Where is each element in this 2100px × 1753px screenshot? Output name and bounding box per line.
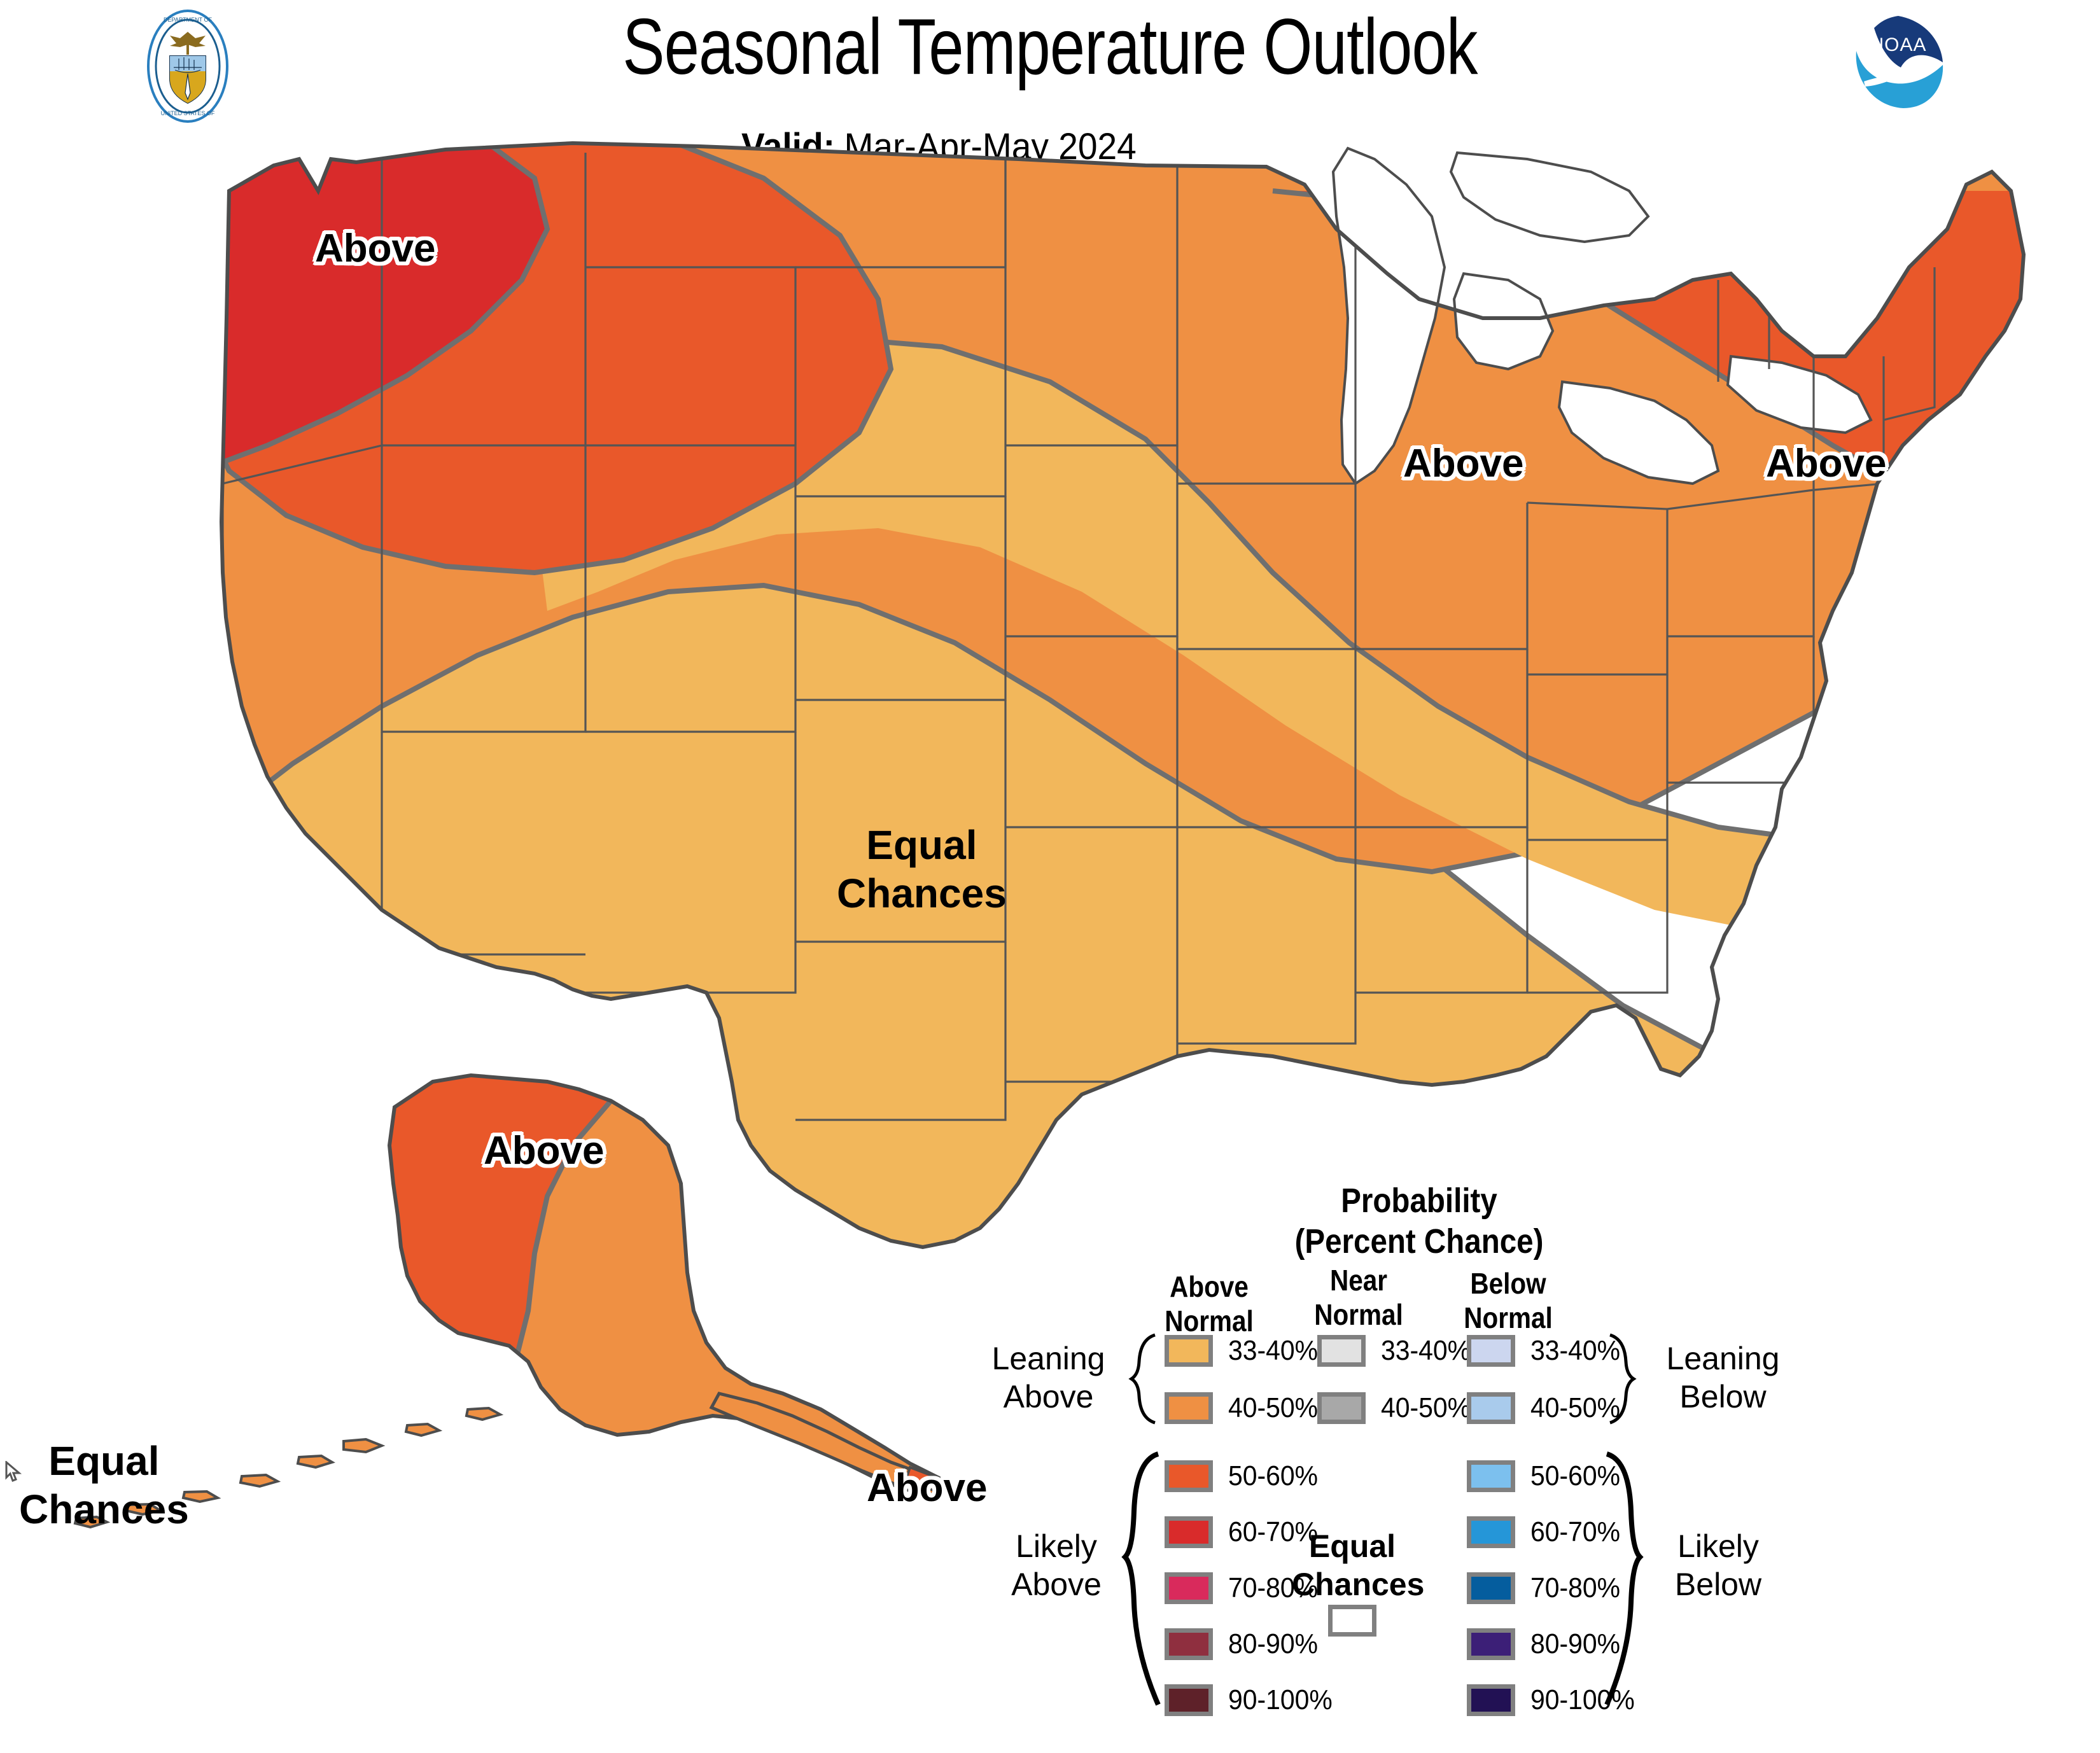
swatch-label-above-80-90: 80-90%: [1228, 1628, 1318, 1660]
equal-chances-line1: Equal: [837, 821, 1007, 869]
swatch-above-50-60: [1165, 1460, 1213, 1492]
legend-title-line1: Probability: [1027, 1180, 1811, 1221]
swatch-label-above-50-60: 50-60%: [1228, 1460, 1318, 1492]
legend-equal-chances-label: Equal Chances: [1292, 1527, 1413, 1603]
leaning-above-line1: Leaning: [974, 1339, 1123, 1378]
equal-chances-line2: Chances: [837, 869, 1007, 918]
bracket-label-leaning-above: Leaning Above: [974, 1339, 1123, 1416]
legend-column-header-below-normal: Below Normal: [1444, 1266, 1572, 1335]
swatch-label-below-33-40: 33-40%: [1530, 1335, 1620, 1367]
swatch-below-50-60: [1467, 1460, 1515, 1492]
swatch-below-90-100: [1467, 1684, 1515, 1716]
map-label-northeast: Above: [1766, 441, 1886, 486]
swatch-below-40-50: [1467, 1392, 1515, 1424]
map-label-northwest: Above: [315, 226, 435, 271]
swatch-equal-chances: [1328, 1605, 1376, 1637]
swatch-above-60-70: [1165, 1516, 1213, 1548]
legend-column-header-near-normal: Near Normal: [1294, 1263, 1423, 1332]
swatch-label-near-33-40: 33-40%: [1381, 1335, 1471, 1367]
swatch-above-80-90: [1165, 1628, 1213, 1660]
col-below-line2: Normal: [1444, 1301, 1572, 1335]
bracket-label-leaning-below: Leaning Below: [1648, 1339, 1798, 1416]
map-label-great-lakes: Above: [1403, 441, 1523, 486]
bracket-label-likely-below: Likely Below: [1648, 1527, 1788, 1603]
swatch-above-90-100: [1165, 1684, 1213, 1716]
equal-chances-hawaii-line2: Chances: [19, 1485, 189, 1533]
legend-title: Probability (Percent Chance): [1027, 1180, 1811, 1262]
swatch-label-above-90-100: 90-100%: [1228, 1684, 1333, 1716]
map-label-equal-chances-hawaii: Equal Chances: [19, 1437, 189, 1533]
swatch-label-below-60-70: 60-70%: [1530, 1516, 1620, 1548]
swatch-label-below-50-60: 50-60%: [1530, 1460, 1620, 1492]
swatch-label-below-70-80: 70-80%: [1530, 1572, 1620, 1604]
swatch-label-below-40-50: 40-50%: [1530, 1392, 1620, 1424]
probability-legend: Probability (Percent Chance) Above Norma…: [974, 1180, 1865, 1600]
swatch-below-33-40: [1467, 1335, 1515, 1367]
swatch-label-above-33-40: 33-40%: [1228, 1335, 1318, 1367]
swatch-above-40-50: [1165, 1392, 1213, 1424]
swatch-below-60-70: [1467, 1516, 1515, 1548]
col-near-line1: Near: [1294, 1263, 1423, 1297]
bracket-label-likely-above: Likely Above: [993, 1527, 1120, 1603]
legend-ec-line1: Equal: [1292, 1527, 1413, 1565]
swatch-above-33-40: [1165, 1335, 1213, 1367]
map-label-equal-chances-center: Equal Chances: [837, 821, 1007, 918]
swatch-label-below-90-100: 90-100%: [1530, 1684, 1635, 1716]
likely-below-line1: Likely: [1648, 1527, 1788, 1565]
swatch-label-above-40-50: 40-50%: [1228, 1392, 1318, 1424]
map-label-southeast-alaska: Above: [867, 1465, 987, 1511]
swatch-below-70-80: [1467, 1572, 1515, 1604]
col-near-line2: Normal: [1294, 1297, 1423, 1332]
leaning-below-line2: Below: [1648, 1378, 1798, 1416]
swatch-below-80-90: [1467, 1628, 1515, 1660]
swatch-near-40-50: [1317, 1392, 1366, 1424]
swatch-above-70-80: [1165, 1572, 1213, 1604]
col-below-line1: Below: [1444, 1266, 1572, 1301]
col-above-line2: Normal: [1145, 1304, 1273, 1338]
legend-ec-line2: Chances: [1292, 1565, 1413, 1603]
legend-title-line2: (Percent Chance): [1027, 1221, 1811, 1262]
likely-above-line2: Above: [993, 1565, 1120, 1603]
legend-column-header-above-normal: Above Normal: [1145, 1269, 1273, 1338]
likely-above-line1: Likely: [993, 1527, 1120, 1565]
swatch-near-33-40: [1317, 1335, 1366, 1367]
map-label-alaska: Above: [484, 1128, 604, 1173]
col-above-line1: Above: [1145, 1269, 1273, 1304]
swatch-label-below-80-90: 80-90%: [1530, 1628, 1620, 1660]
leaning-above-line2: Above: [974, 1378, 1123, 1416]
mouse-cursor-icon: [5, 1461, 24, 1483]
leaning-below-line1: Leaning: [1648, 1339, 1798, 1378]
equal-chances-hawaii-line1: Equal: [19, 1437, 189, 1485]
swatch-label-near-40-50: 40-50%: [1381, 1392, 1471, 1424]
likely-below-line2: Below: [1648, 1565, 1788, 1603]
